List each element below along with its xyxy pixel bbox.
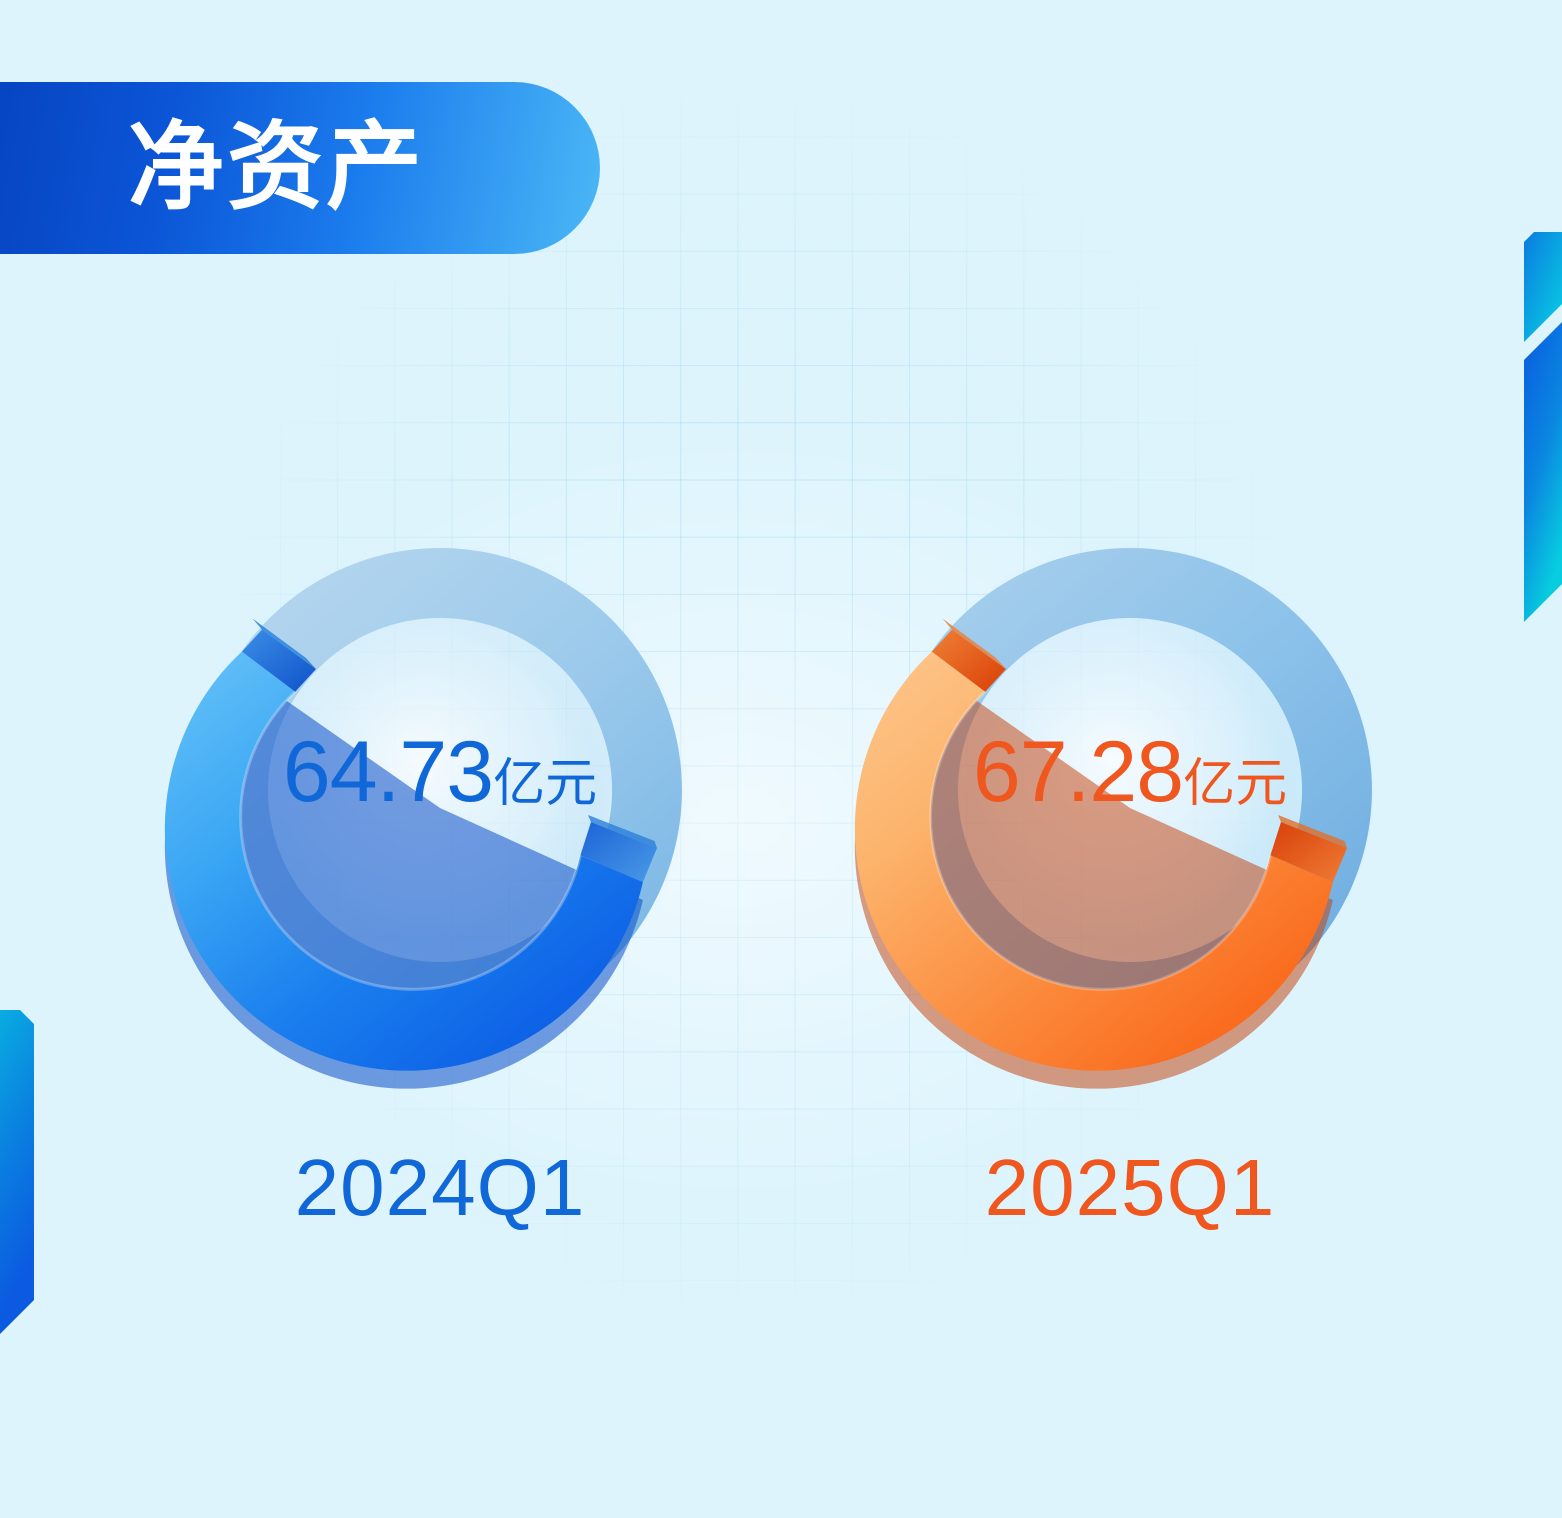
series-label-2025q1: 2025Q1 [820,1148,1440,1228]
center-value-2024q1: 64.73亿元 [130,729,750,815]
center-value-unit: 亿元 [1183,755,1287,813]
chart-card-2025q1: 67.28亿元 2025Q1 [820,470,1440,1228]
series-label-2024q1: 2024Q1 [130,1148,750,1228]
chart-card-2024q1: 64.73亿元 2024Q1 [130,470,750,1228]
infographic-canvas: 净资产 [0,0,1562,1518]
center-value-2025q1: 67.28亿元 [820,729,1440,815]
donut-chart-2025q1: 67.28亿元 [820,470,1440,1110]
page-title-banner: 净资产 [0,82,600,254]
center-value-number: 64.73 [283,724,493,820]
donut-chart-2024q1: 64.73亿元 [130,470,750,1110]
center-value-unit: 亿元 [493,755,597,813]
page-title: 净资产 [128,120,425,216]
right-chevron-decoration [1476,232,1562,632]
center-value-number: 67.28 [973,724,1183,820]
left-chevron-decoration [0,1010,70,1380]
